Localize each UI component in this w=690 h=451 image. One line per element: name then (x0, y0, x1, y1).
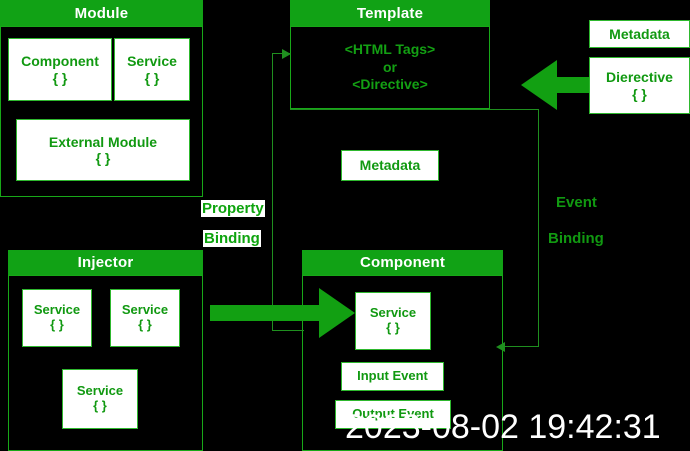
metadata-center-label: Metadata (360, 157, 421, 173)
component-service-label: Service (370, 306, 416, 321)
dierective-label: Dierective (606, 69, 673, 85)
template-bottom-connector-vertical (538, 109, 539, 346)
template-line-directive: <Directive> (352, 76, 428, 94)
module-component-braces: { } (53, 70, 68, 86)
component-service-braces: { } (386, 321, 400, 336)
component-input-event-box: Input Event (341, 362, 444, 391)
directive-arrow-shaft (557, 77, 589, 93)
injector-to-component-arrow (210, 288, 355, 338)
directive-arrow-head (521, 60, 557, 110)
injector-panel-header: Injector (8, 250, 203, 275)
module-component-label: Component (21, 53, 99, 69)
component-service-box: Service { } (355, 292, 431, 350)
injector-service-box-2: Service { } (110, 289, 180, 347)
event-binding-arrowhead (496, 342, 505, 352)
binding-label-right: Binding (548, 230, 604, 247)
template-line-html-tags: <HTML Tags> (345, 41, 436, 59)
module-external-module-box: External Module { } (16, 119, 190, 181)
timestamp-overlay: 2023-08-02 19:42:31 (345, 408, 661, 447)
template-line-or: or (383, 59, 397, 77)
module-component-box: Component { } (8, 38, 112, 101)
dierective-box: Dierective { } (589, 57, 690, 114)
template-bottom-connector-horizontal (290, 109, 538, 110)
module-external-module-braces: { } (96, 150, 111, 166)
metadata-center-box: Metadata (341, 150, 439, 181)
injector-service-box-1: Service { } (22, 289, 92, 347)
metadata-right-label: Metadata (609, 26, 670, 42)
event-binding-line-horizontal (503, 346, 539, 347)
injector-service-2-braces: { } (138, 318, 152, 333)
diagram-canvas: Module Component { } Service { } Externa… (0, 0, 690, 451)
injector-service-3-label: Service (77, 384, 123, 399)
injector-service-box-3: Service { } (62, 369, 138, 429)
module-external-module-label: External Module (49, 134, 157, 150)
metadata-right-box: Metadata (589, 20, 690, 48)
component-input-event-label: Input Event (357, 369, 428, 384)
module-service-box: Service { } (114, 38, 190, 101)
dierective-braces: { } (632, 86, 647, 102)
property-binding-arrowhead (282, 49, 291, 59)
module-panel-header: Module (0, 0, 203, 26)
injector-service-1-label: Service (34, 303, 80, 318)
injector-arrow-shaft (210, 305, 319, 321)
injector-service-2-label: Service (122, 303, 168, 318)
template-body-box: <HTML Tags> or <Directive> (290, 26, 490, 109)
template-panel-header: Template (290, 0, 490, 26)
binding-label-left: Binding (203, 230, 261, 247)
directive-to-template-arrow (521, 60, 589, 110)
property-label: Property (201, 200, 265, 217)
injector-service-1-braces: { } (50, 318, 64, 333)
component-panel-header: Component (302, 250, 503, 275)
injector-service-3-braces: { } (93, 399, 107, 414)
module-service-braces: { } (145, 70, 160, 86)
module-service-label: Service (127, 53, 177, 69)
injector-arrow-head (319, 288, 355, 338)
event-label: Event (556, 194, 597, 211)
